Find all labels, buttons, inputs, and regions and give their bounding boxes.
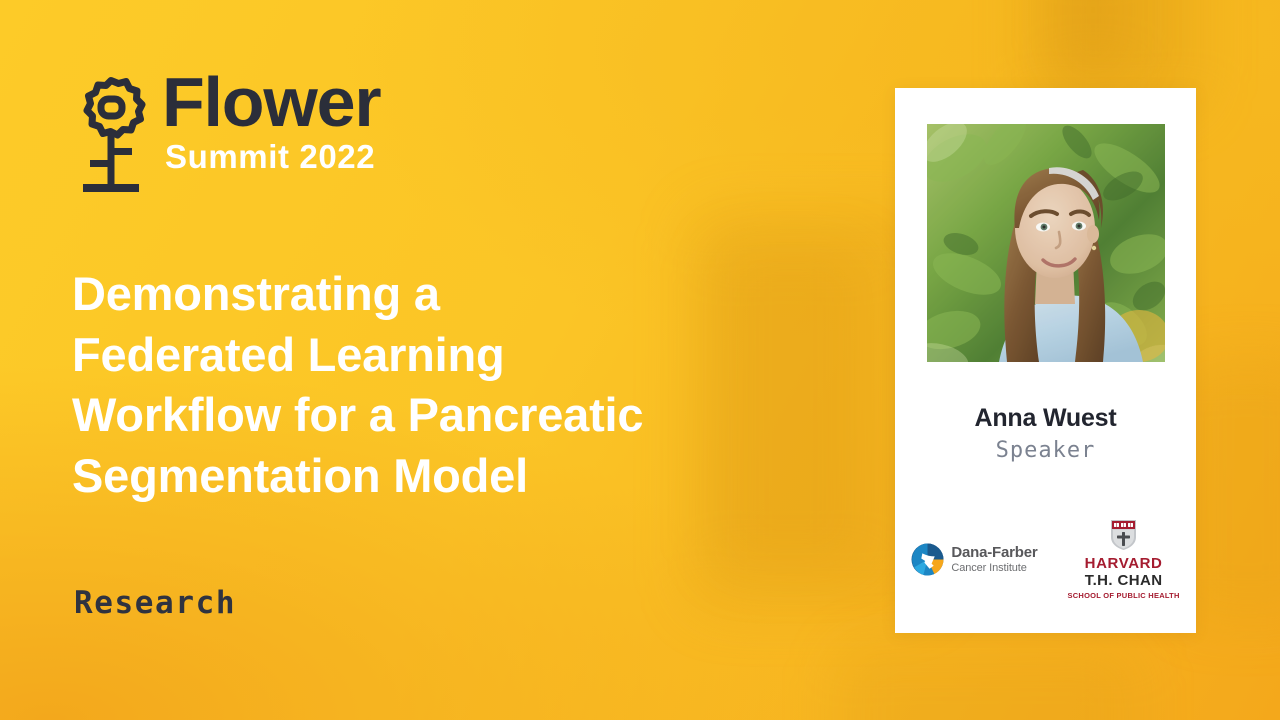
harvard-line3: SCHOOL OF PUBLIC HEALTH: [1068, 591, 1180, 600]
harvard-line2: T.H. CHAN: [1085, 572, 1163, 589]
slide-canvas: Flower Summit 2022 Demonstrating a Feder…: [0, 0, 1280, 720]
harvard-chan-logo: HARVARD T.H. CHAN SCHOOL OF PUBLIC HEALT…: [1068, 519, 1180, 600]
organization-logos: Dana-Farber Cancer Institute: [895, 519, 1196, 600]
session-title: Demonstrating a Federated Learning Workf…: [72, 264, 652, 507]
harvard-line1: HARVARD: [1085, 555, 1163, 572]
speaker-name: Anna Wuest: [975, 404, 1117, 433]
harvard-shield-icon: [1110, 519, 1137, 551]
event-name: Summit 2022: [165, 140, 380, 175]
session-track-label: Research: [74, 585, 236, 621]
brand-wordmark: Flower Summit 2022: [162, 66, 380, 175]
brand-name: Flower: [162, 70, 380, 134]
brand-lockup: Flower Summit 2022: [72, 66, 380, 196]
speaker-portrait: [927, 124, 1165, 362]
dana-farber-line2: Cancer Institute: [951, 562, 1037, 574]
dana-farber-line1: Dana-Farber: [951, 545, 1037, 562]
speaker-card: Anna Wuest Speaker Dana-Farber Cancer In: [895, 88, 1196, 633]
dana-farber-logo: Dana-Farber Cancer Institute: [911, 543, 1037, 576]
left-content-column: Flower Summit 2022 Demonstrating a Feder…: [72, 0, 692, 720]
flower-logo-icon: [72, 72, 150, 196]
speaker-role: Speaker: [996, 438, 1096, 463]
dana-farber-pinwheel-icon: [911, 543, 944, 576]
dana-farber-wordmark: Dana-Farber Cancer Institute: [951, 545, 1037, 574]
